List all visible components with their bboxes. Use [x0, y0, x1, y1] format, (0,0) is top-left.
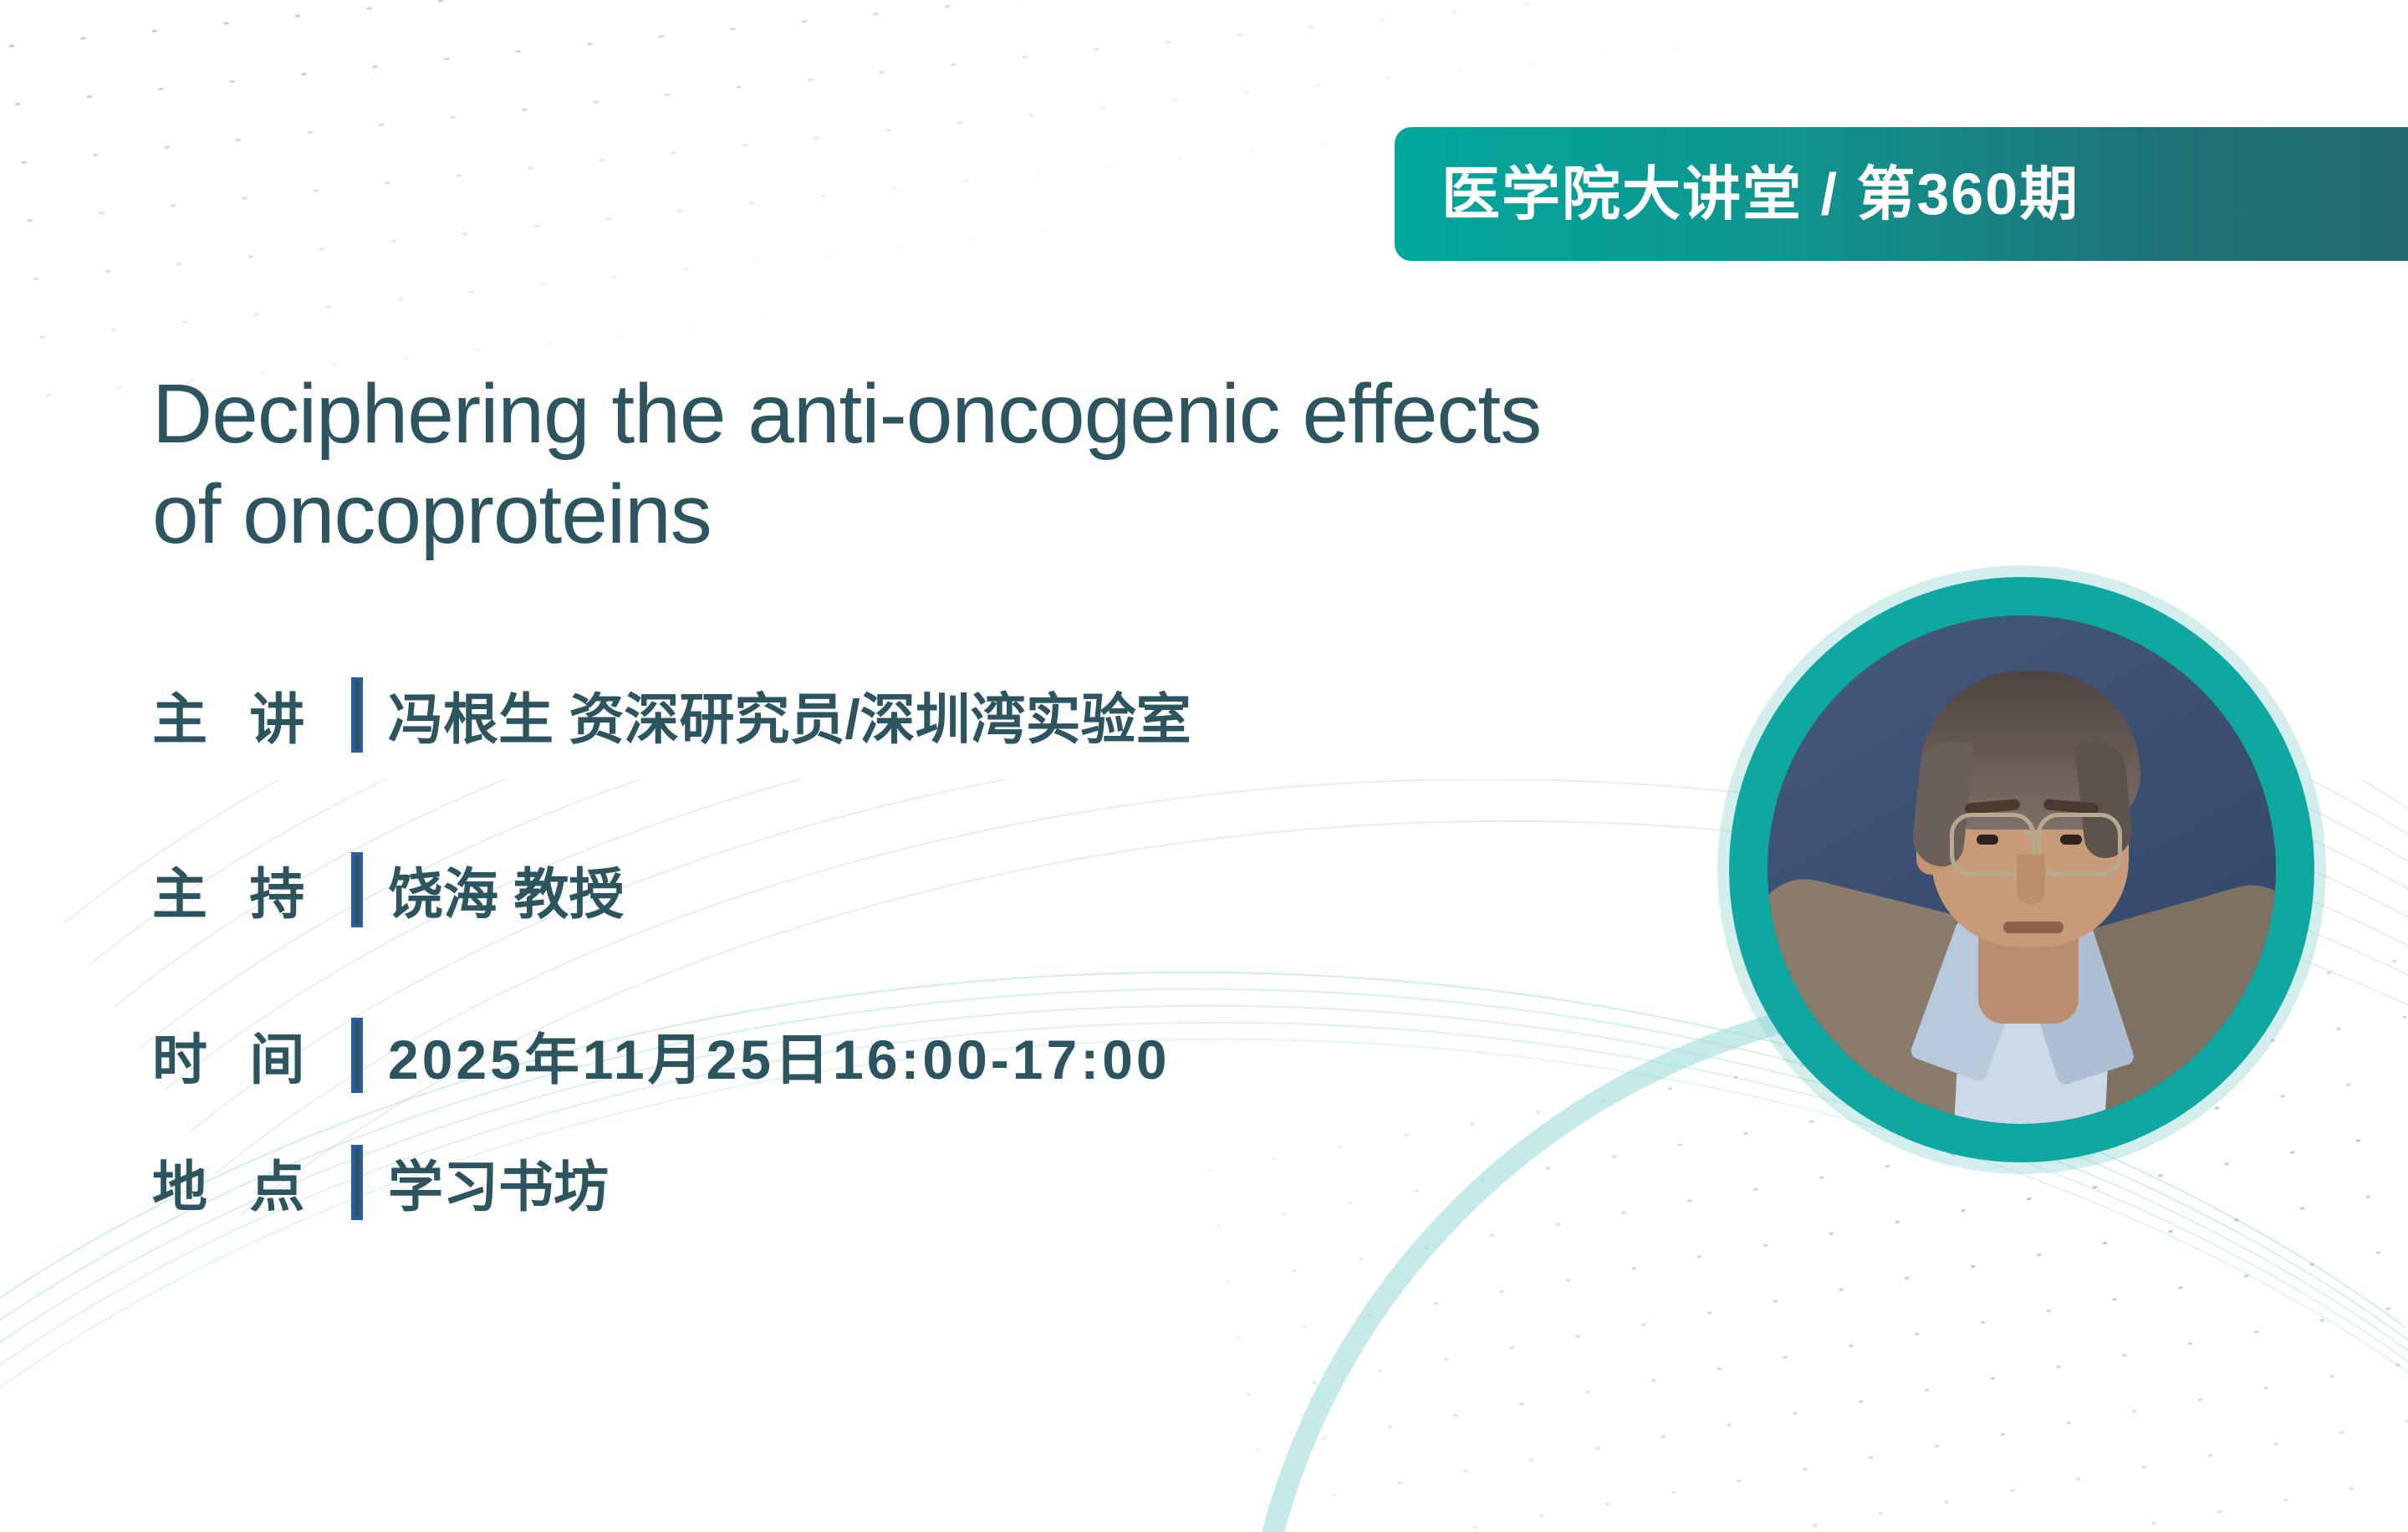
page-title: Deciphering the anti-oncogenic effects o…: [152, 364, 1992, 564]
info-value-location: 学习书坊: [388, 1142, 609, 1223]
title-line-1: Deciphering the anti-oncogenic effects: [152, 364, 1992, 464]
avatar-eye-right: [2060, 835, 2082, 845]
avatar-mouth: [2003, 922, 2064, 933]
info-row-time: 时 间 2025年11月25日16:00-17:00: [152, 1000, 1908, 1111]
lecture-poster: 医学院大讲堂 / 第360期 Deciphering the anti-onco…: [0, 0, 2408, 1532]
avatar-nose: [2017, 855, 2045, 905]
avatar: [1768, 615, 2276, 1124]
info-value-host: 饶海 教授: [388, 850, 624, 930]
info-label-host: 主 持: [152, 850, 351, 930]
info-row-speaker: 主 讲 冯根生 资深研究员/深圳湾实验室: [152, 652, 1908, 778]
info-row-host: 主 持 饶海 教授: [152, 826, 1908, 953]
info-value-time: 2025年11月25日16:00-17:00: [388, 1015, 1171, 1095]
info-label-location: 地 点: [152, 1142, 351, 1223]
info-label-time: 时 间: [152, 1015, 351, 1095]
info-label-speaker: 主 讲: [152, 675, 351, 755]
divider-bar-icon: [351, 1145, 363, 1220]
series-badge: 医学院大讲堂 / 第360期: [1395, 127, 2408, 261]
avatar-glasses-bridge-icon: [2025, 831, 2040, 835]
series-badge-label: 医学院大讲堂 / 第360期: [1441, 165, 2079, 223]
title-line-2: of oncoproteins: [152, 464, 1992, 564]
avatar-eye-left: [1977, 835, 1998, 845]
info-value-speaker: 冯根生 资深研究员/深圳湾实验室: [388, 675, 1191, 755]
avatar-glasses-right-icon: [2037, 813, 2122, 876]
speaker-portrait: [1729, 577, 2314, 1162]
info-row-location: 地 点 学习书坊: [152, 1129, 1908, 1236]
divider-bar-icon: [351, 677, 363, 753]
divider-bar-icon: [351, 852, 363, 927]
info-block: 主 讲 冯根生 资深研究员/深圳湾实验室 主 持 饶海 教授 时 间 2025年…: [152, 652, 1908, 1236]
divider-bar-icon: [351, 1018, 363, 1093]
